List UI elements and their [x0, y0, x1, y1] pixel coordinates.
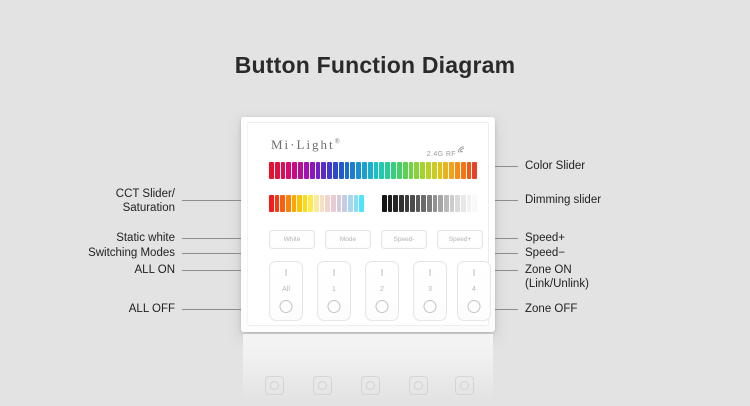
- zone-off-icon-3[interactable]: [424, 300, 437, 313]
- color-slider-tick[interactable]: [397, 162, 402, 179]
- color-slider-tick[interactable]: [438, 162, 443, 179]
- dimming-slider-tick[interactable]: [416, 195, 421, 212]
- color-slider-tick[interactable]: [432, 162, 437, 179]
- dimming-slider-tick[interactable]: [393, 195, 398, 212]
- zone-button-all[interactable]: I All: [269, 261, 303, 321]
- brand-trademark: ®: [335, 138, 340, 146]
- callout-speed-up: Speed+: [525, 232, 675, 246]
- color-slider-tick[interactable]: [292, 162, 297, 179]
- zone-on-icon-3[interactable]: I: [414, 269, 446, 279]
- color-slider-tick[interactable]: [356, 162, 361, 179]
- color-slider-tick[interactable]: [339, 162, 344, 179]
- color-slider-tick[interactable]: [327, 162, 332, 179]
- zone-button-2[interactable]: I 2: [365, 261, 399, 321]
- cct-saturation-slider-tick[interactable]: [354, 195, 359, 212]
- color-slider-tick[interactable]: [455, 162, 460, 179]
- color-slider-tick[interactable]: [368, 162, 373, 179]
- zone-on-icon-1[interactable]: I: [318, 269, 350, 279]
- color-slider-tick[interactable]: [409, 162, 414, 179]
- cct-saturation-slider[interactable]: [269, 195, 364, 212]
- color-slider-tick[interactable]: [281, 162, 286, 179]
- color-slider-tick[interactable]: [426, 162, 431, 179]
- callout-cct-slider-saturation: CCT Slider/ Saturation: [60, 188, 175, 215]
- zone-label-4: 4: [458, 286, 490, 293]
- dimming-slider-tick[interactable]: [444, 195, 449, 212]
- cct-saturation-slider-tick[interactable]: [292, 195, 297, 212]
- color-slider-tick[interactable]: [420, 162, 425, 179]
- dimming-slider-tick[interactable]: [421, 195, 426, 212]
- color-slider-tick[interactable]: [379, 162, 384, 179]
- cct-saturation-slider-tick[interactable]: [320, 195, 325, 212]
- cct-saturation-slider-tick[interactable]: [269, 195, 274, 212]
- color-slider-tick[interactable]: [345, 162, 350, 179]
- cct-saturation-slider-tick[interactable]: [297, 195, 302, 212]
- color-slider-tick[interactable]: [316, 162, 321, 179]
- callout-all-off: ALL OFF: [95, 303, 175, 317]
- wireless-signal-icon: [457, 140, 467, 158]
- zone-off-icon-4[interactable]: [468, 300, 481, 313]
- zone-label-2: 2: [366, 286, 398, 293]
- zone-on-icon-all[interactable]: I: [270, 269, 302, 279]
- cct-saturation-slider-tick[interactable]: [308, 195, 313, 212]
- dimming-slider-tick[interactable]: [427, 195, 432, 212]
- dimming-slider-tick[interactable]: [388, 195, 393, 212]
- diagram-stage: Button Function Diagram CCT Slider/ Satu…: [0, 0, 750, 406]
- callout-dimming-slider: Dimming slider: [525, 194, 675, 208]
- color-slider-tick[interactable]: [374, 162, 379, 179]
- color-slider-tick[interactable]: [286, 162, 291, 179]
- zone-on-icon-4[interactable]: I: [458, 269, 490, 279]
- page-title: Button Function Diagram: [0, 52, 750, 79]
- brand-logo-text: Mi·Light: [271, 137, 335, 152]
- cct-saturation-slider-tick[interactable]: [286, 195, 291, 212]
- dimming-slider-tick[interactable]: [438, 195, 443, 212]
- color-slider-tick[interactable]: [472, 162, 477, 179]
- cct-saturation-slider-tick[interactable]: [331, 195, 336, 212]
- cct-saturation-slider-tick[interactable]: [280, 195, 285, 212]
- callout-switching-modes: Switching Modes: [70, 247, 175, 261]
- panel-reflection: [243, 334, 493, 400]
- color-slider-tick[interactable]: [467, 162, 472, 179]
- cct-saturation-slider-tick[interactable]: [314, 195, 319, 212]
- color-slider-tick[interactable]: [333, 162, 338, 179]
- zone-off-icon-2[interactable]: [376, 300, 389, 313]
- dimming-slider-tick[interactable]: [450, 195, 455, 212]
- speed-down-button[interactable]: Speed-: [381, 230, 427, 249]
- cct-saturation-slider-tick[interactable]: [275, 195, 280, 212]
- callout-zone-off: Zone OFF: [525, 303, 675, 317]
- zone-button-4[interactable]: I 4: [457, 261, 491, 321]
- dimming-slider[interactable]: [382, 195, 477, 212]
- speed-up-button[interactable]: Speed+: [437, 230, 483, 249]
- dimming-slider-tick[interactable]: [467, 195, 472, 212]
- color-slider-tick[interactable]: [321, 162, 326, 179]
- reflection-zone-1: [313, 376, 332, 395]
- color-slider-tick[interactable]: [391, 162, 396, 179]
- color-slider-tick[interactable]: [275, 162, 280, 179]
- color-slider-tick[interactable]: [443, 162, 448, 179]
- color-slider-tick[interactable]: [304, 162, 309, 179]
- zone-button-1[interactable]: I 1: [317, 261, 351, 321]
- color-slider-tick[interactable]: [414, 162, 419, 179]
- reflection-zone-3: [409, 376, 428, 395]
- color-slider-tick[interactable]: [310, 162, 315, 179]
- dimming-slider-tick[interactable]: [472, 195, 477, 212]
- dimming-slider-tick[interactable]: [410, 195, 415, 212]
- zone-on-icon-2[interactable]: I: [366, 269, 398, 279]
- panel-face: Mi·Light® 2.4G RF White Mode: [247, 122, 489, 326]
- cct-saturation-slider-tick[interactable]: [342, 195, 347, 212]
- reflection-zone-2: [361, 376, 380, 395]
- color-slider-tick[interactable]: [269, 162, 274, 179]
- rf-label: 2.4G RF: [427, 151, 456, 158]
- white-button[interactable]: White: [269, 230, 315, 249]
- color-slider[interactable]: [269, 162, 477, 179]
- callout-speed-down: Speed−: [525, 247, 675, 261]
- dimming-slider-tick[interactable]: [455, 195, 460, 212]
- color-slider-tick[interactable]: [385, 162, 390, 179]
- reflection-zone-all: [265, 376, 284, 395]
- color-slider-tick[interactable]: [461, 162, 466, 179]
- zone-label-3: 3: [414, 286, 446, 293]
- color-slider-tick[interactable]: [449, 162, 454, 179]
- cct-saturation-slider-tick[interactable]: [337, 195, 342, 212]
- zone-off-icon-all[interactable]: [280, 300, 293, 313]
- zone-off-icon-1[interactable]: [328, 300, 341, 313]
- brand-logo: Mi·Light®: [271, 137, 340, 153]
- cct-saturation-slider-tick[interactable]: [325, 195, 330, 212]
- callout-static-white: Static white: [90, 232, 175, 246]
- dimming-slider-tick[interactable]: [433, 195, 438, 212]
- callout-all-on: ALL ON: [95, 264, 175, 278]
- dimming-slider-tick[interactable]: [382, 195, 387, 212]
- cct-saturation-slider-tick[interactable]: [303, 195, 308, 212]
- cct-saturation-slider-tick[interactable]: [359, 195, 364, 212]
- cct-saturation-slider-tick[interactable]: [348, 195, 353, 212]
- zone-button-3[interactable]: I 3: [413, 261, 447, 321]
- rf-badge: 2.4G RF: [427, 140, 467, 158]
- reflection-zone-4: [455, 376, 474, 395]
- dimming-slider-tick[interactable]: [461, 195, 466, 212]
- color-slider-tick[interactable]: [298, 162, 303, 179]
- dimming-slider-tick[interactable]: [405, 195, 410, 212]
- color-slider-tick[interactable]: [403, 162, 408, 179]
- zone-label-1: 1: [318, 286, 350, 293]
- callout-color-slider: Color Slider: [525, 160, 675, 174]
- dimming-slider-tick[interactable]: [399, 195, 404, 212]
- color-slider-tick[interactable]: [362, 162, 367, 179]
- mode-button[interactable]: Mode: [325, 230, 371, 249]
- callout-zone-on: Zone ON (Link/Unlink): [525, 264, 675, 291]
- color-slider-tick[interactable]: [350, 162, 355, 179]
- zone-label-all: All: [270, 286, 302, 293]
- smart-panel-device: Mi·Light® 2.4G RF White Mode: [241, 117, 495, 332]
